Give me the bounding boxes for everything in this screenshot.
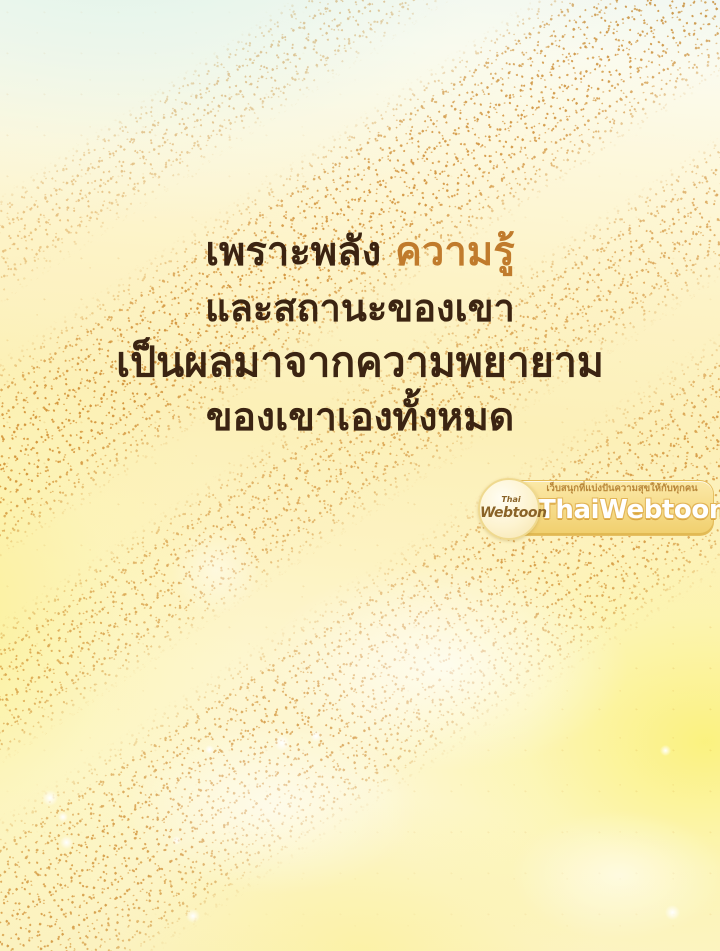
sparkle-icon <box>274 735 290 751</box>
background-yellow-glow <box>0 0 720 951</box>
watermark-badge-top-text: Thai <box>480 496 542 504</box>
watermark-brand-text: ThaiWebtoon <box>538 497 708 524</box>
glitter-band-middle <box>0 0 720 934</box>
quote-text-block: เพราะพลัง ความรู้ และสถานะของเขา เป็นผลม… <box>0 232 720 437</box>
sparkle-icon <box>58 812 68 822</box>
sparkle-icon <box>60 836 73 849</box>
thaiwebtoon-watermark: เว็บสนุกที่แบ่งปันความสุขให้กับทุกคน Tha… <box>476 478 714 544</box>
sparkle-icon <box>660 745 671 756</box>
quote-line-1-text: เพราะพลัง <box>205 229 395 275</box>
quote-line-2: และสถานะของเขา <box>0 289 720 327</box>
quote-line-1: เพราะพลัง ความรู้ <box>0 232 720 272</box>
quote-line-3: เป็นผลมาจากความพยายาม <box>0 342 720 383</box>
watermark-logo-badge: Thai Webtoon <box>478 478 540 540</box>
quote-line-4: ของเขาเองทั้งหมด <box>0 398 720 437</box>
watermark-badge-main-text: Webtoon <box>480 506 542 520</box>
sparkle-icon <box>205 745 214 754</box>
sparkle-icon <box>172 836 181 845</box>
background-light-bloom <box>0 0 720 951</box>
comic-panel: เพราะพลัง ความรู้ และสถานะของเขา เป็นผลม… <box>0 0 720 951</box>
background-mint-tint <box>0 0 720 951</box>
watermark-tagline: เว็บสนุกที่แบ่งปันความสุขให้กับทุกคน <box>538 484 706 494</box>
sparkle-icon <box>186 909 200 923</box>
background-base-gradient <box>0 0 720 951</box>
quote-line-1-accent: ความรู้ <box>395 229 515 275</box>
glitter-band-group <box>0 0 720 951</box>
sparkle-icon <box>310 730 322 742</box>
background-speckle-haze <box>0 0 720 951</box>
sparkle-icon <box>42 790 58 806</box>
sparkle-icon <box>665 905 680 920</box>
